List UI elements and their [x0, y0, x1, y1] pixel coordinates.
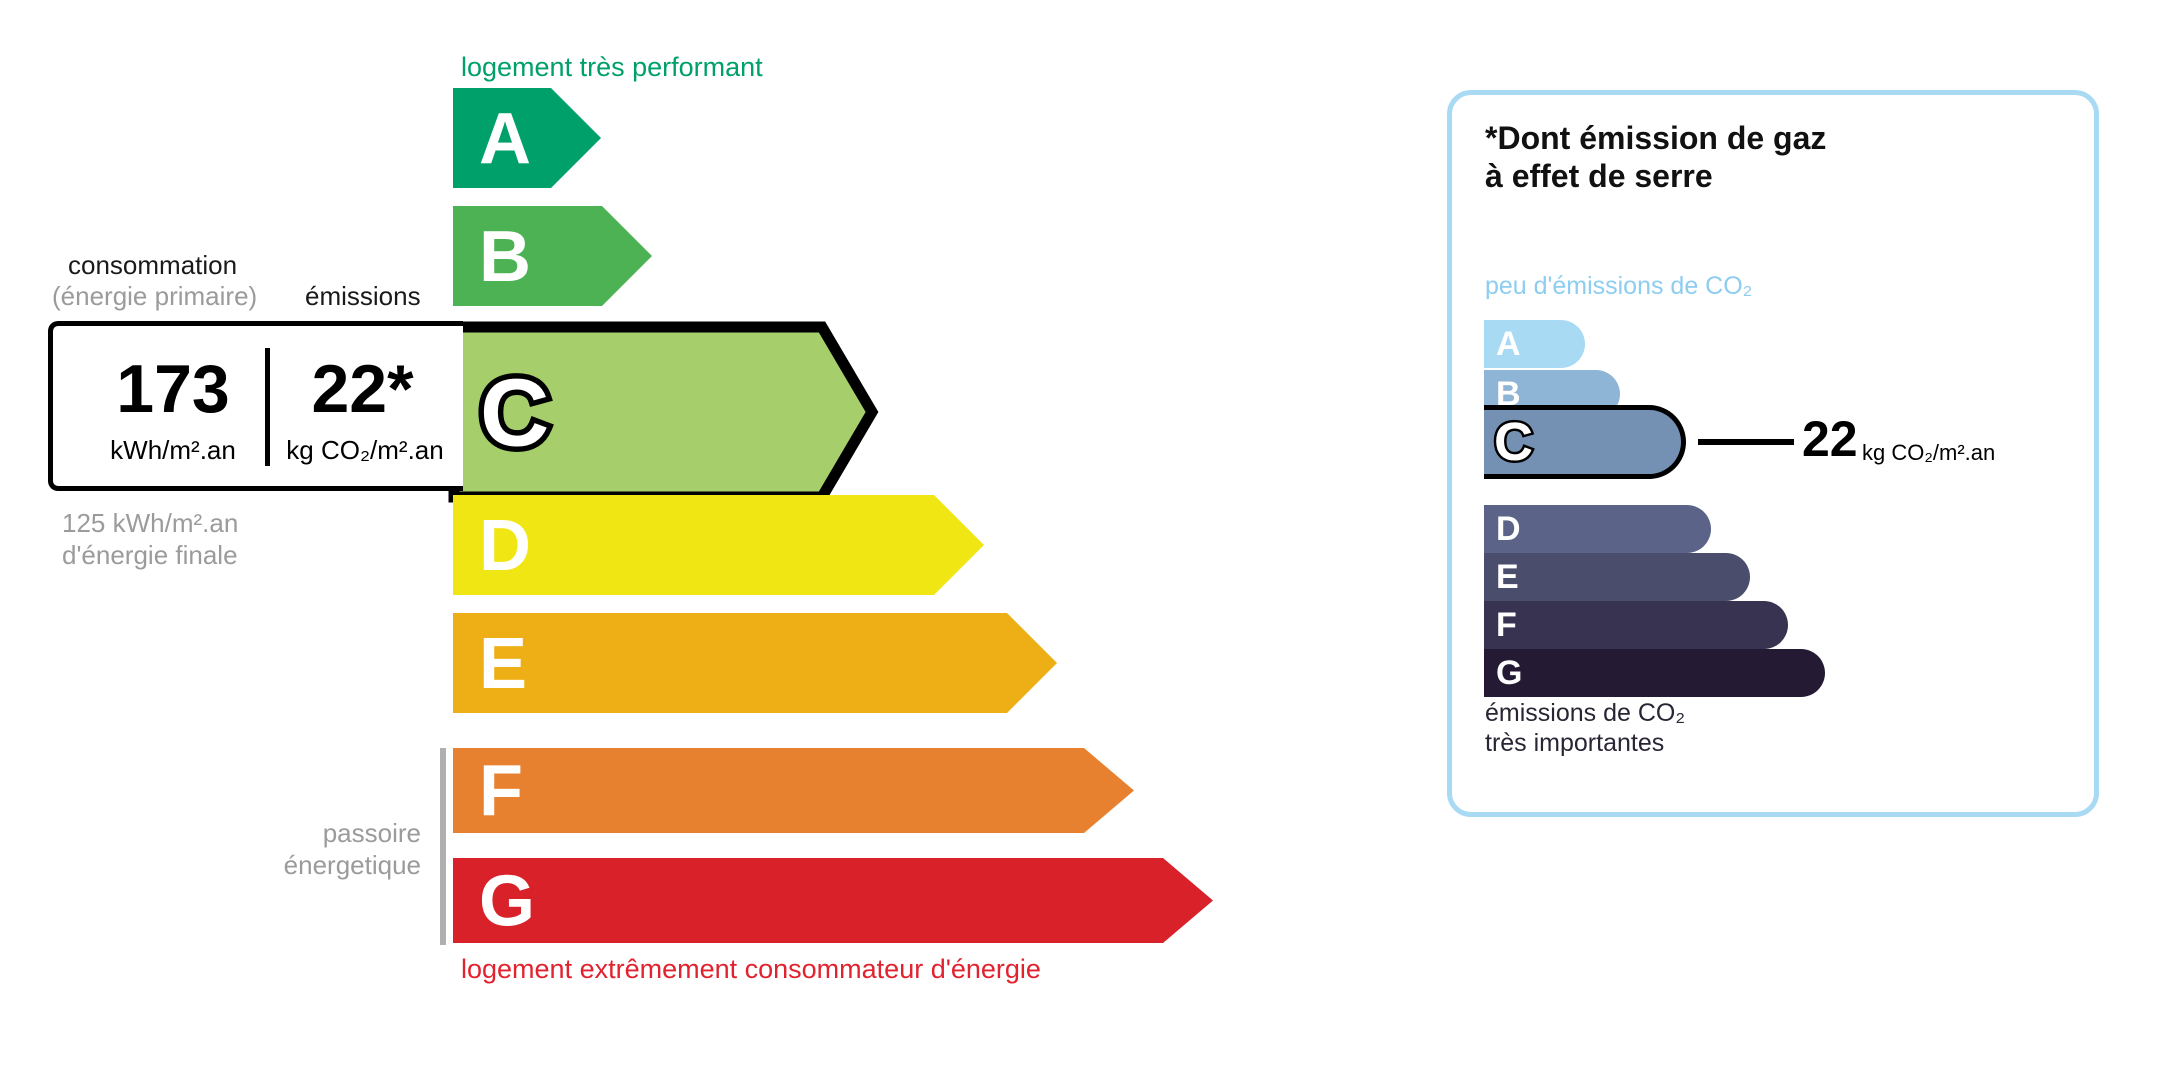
value-box-divider	[265, 348, 270, 466]
ges-bar-a: A	[1484, 320, 1585, 368]
dpe-diagram: logement très performant A B C D E F G l…	[0, 0, 2169, 1079]
scale-bottom-caption: logement extrêmement consommateur d'éner…	[461, 954, 1041, 985]
energy-bar-g: G	[453, 858, 1213, 943]
final-energy-value: 125 kWh/m².an	[62, 508, 238, 539]
ges-bottom-caption-line1: émissions de CO₂	[1485, 699, 1685, 727]
energy-bar-a: A	[453, 88, 601, 188]
ges-bar-letter: F	[1496, 608, 1517, 642]
scale-top-caption: logement très performant	[461, 52, 763, 83]
ges-bar-f: F	[1484, 601, 1788, 649]
ges-bar-e: E	[1484, 553, 1750, 601]
ges-bar-letter: A	[1496, 327, 1521, 361]
ges-panel-title: *Dont émission de gaz à effet de serre	[1485, 120, 1826, 196]
energy-bar-d: D	[453, 495, 984, 595]
energy-bar-c-selected: C	[448, 321, 878, 503]
callout-unit: kg CO₂/m².an	[1862, 442, 1995, 464]
ges-bar-letter: D	[1496, 512, 1521, 546]
ges-bar-c-selected: C	[1484, 405, 1686, 479]
ges-bar-letter: C	[1494, 415, 1533, 469]
callout-leader-line	[1698, 439, 1794, 445]
passoire-label-line2: énergetique	[266, 850, 421, 881]
passoire-rule	[440, 748, 446, 945]
label-emissions: émissions	[305, 281, 421, 312]
svg-text:F: F	[479, 752, 523, 832]
svg-text:D: D	[479, 506, 531, 586]
ges-bottom-caption-line2: très importantes	[1485, 729, 1664, 757]
label-consumption: consommation	[68, 250, 237, 281]
svg-text:A: A	[479, 99, 531, 179]
ges-bar-letter: E	[1496, 560, 1519, 594]
energy-bar-b: B	[453, 206, 652, 306]
ges-title-line2: à effet de serre	[1485, 158, 1713, 194]
primary-energy-unit: kWh/m².an	[88, 435, 258, 466]
emissions-unit: kg CO₂/m².an	[275, 435, 455, 466]
callout-value: 22	[1802, 414, 1858, 464]
svg-text:B: B	[479, 217, 531, 297]
energy-bar-f: F	[453, 748, 1134, 833]
svg-text:G: G	[479, 862, 535, 942]
ges-bar-letter: G	[1496, 656, 1522, 690]
primary-energy-value: 173	[88, 355, 258, 423]
ges-bar-g: G	[1484, 649, 1825, 697]
ges-top-caption: peu d'émissions de CO₂	[1485, 272, 1752, 301]
svg-text:C: C	[480, 360, 549, 467]
passoire-label-line1: passoire	[316, 818, 421, 849]
ges-bar-d: D	[1484, 505, 1711, 553]
ges-title-line1: *Dont émission de gaz	[1485, 120, 1826, 156]
emissions-value: 22*	[280, 355, 445, 423]
svg-text:E: E	[479, 624, 527, 704]
ges-bottom-caption: émissions de CO₂ très importantes	[1485, 698, 1685, 758]
label-consumption-sub: (énergie primaire)	[52, 281, 257, 312]
final-energy-label: d'énergie finale	[62, 540, 238, 571]
energy-bar-e: E	[453, 613, 1057, 713]
